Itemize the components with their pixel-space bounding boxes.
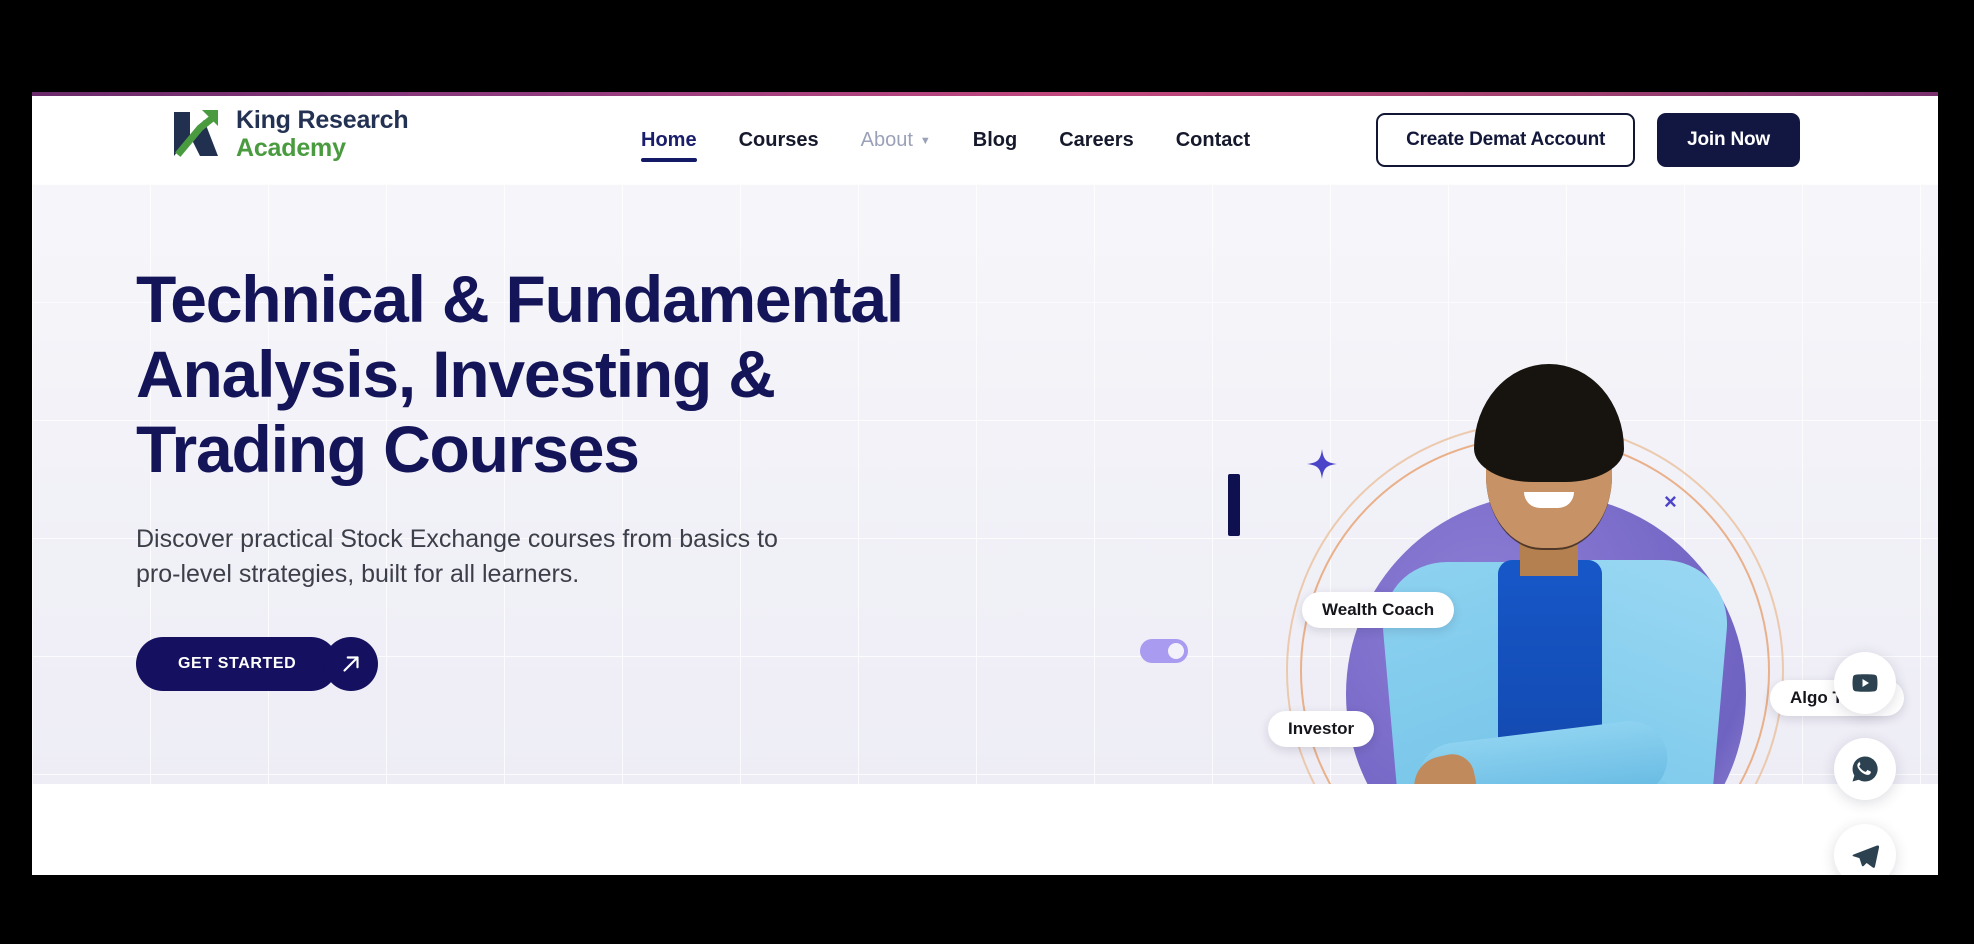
top-accent-bar [32,92,1938,96]
create-demat-account-button[interactable]: Create Demat Account [1376,113,1635,167]
hero-section: × ❯❯❯❯ Technical & Fundamental Analysis,… [32,184,1938,784]
main-navigation: Home Courses About ▼ Blog Careers Contac… [620,96,1271,184]
nav-item-about[interactable]: About ▼ [840,96,952,184]
get-started-button[interactable]: GET STARTED [136,637,338,691]
nav-item-label: About [861,129,913,152]
nav-item-label: Careers [1059,129,1134,152]
join-now-button[interactable]: Join Now [1657,113,1800,167]
nav-item-label: Blog [973,129,1017,152]
arrow-up-right-icon[interactable] [324,637,378,691]
brand-line-2: Academy [236,134,408,162]
badge-investor: Investor [1268,711,1374,747]
hero-copy: Technical & Fundamental Analysis, Invest… [136,262,1266,691]
social-floating-rail [1834,652,1896,875]
brand-line-1: King Research [236,106,408,134]
whatsapp-icon[interactable] [1834,738,1896,800]
nav-item-blog[interactable]: Blog [952,96,1038,184]
hero-subtitle: Discover practical Stock Exchange course… [136,522,916,593]
telegram-icon[interactable] [1834,824,1896,875]
youtube-icon[interactable] [1834,652,1896,714]
site-header: King Research Academy Home Courses About… [32,96,1938,184]
nav-item-careers[interactable]: Careers [1038,96,1155,184]
page-title: Technical & Fundamental Analysis, Invest… [136,262,1266,488]
chevron-down-icon: ▼ [920,136,931,147]
hero-cta-row: GET STARTED [136,637,1266,691]
brand-text: King Research Academy [236,106,408,162]
nav-item-contact[interactable]: Contact [1155,96,1271,184]
nav-item-label: Courses [739,129,819,152]
nav-item-home[interactable]: Home [620,96,718,184]
badge-wealth-coach: Wealth Coach [1302,592,1454,628]
nav-active-underline [641,158,697,162]
king-research-academy-logo-icon [170,106,222,162]
nav-item-courses[interactable]: Courses [718,96,840,184]
instructor-photo [1356,364,1736,784]
nav-item-label: Home [641,129,697,152]
website-viewport: King Research Academy Home Courses About… [32,92,1938,875]
header-actions: Create Demat Account Join Now [1376,96,1800,184]
nav-item-label: Contact [1176,129,1250,152]
brand-logo[interactable]: King Research Academy [170,106,408,162]
